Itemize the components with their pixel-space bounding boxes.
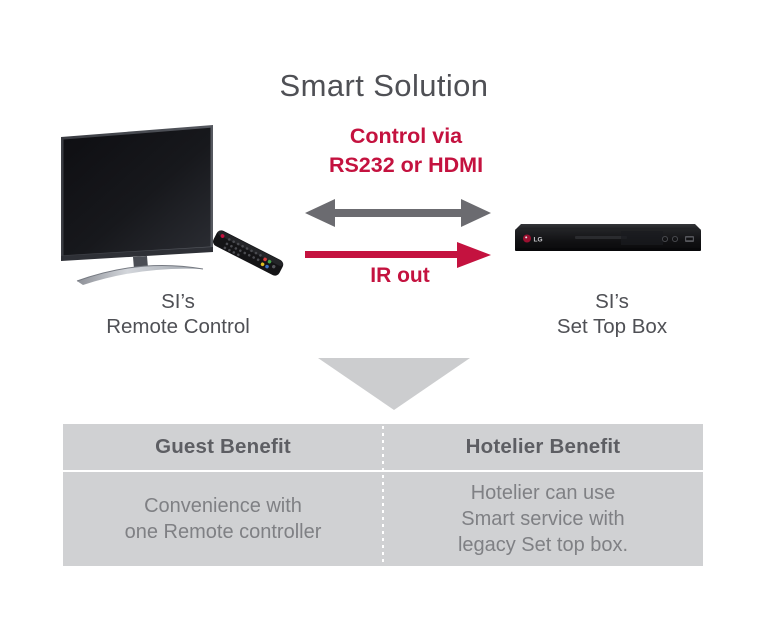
hotelier-benefit-header: Hotelier Benefit bbox=[466, 435, 621, 459]
set-top-box-image: LG bbox=[513, 220, 703, 256]
control-caption-line-2: RS232 or HDMI bbox=[300, 151, 512, 180]
left-device-caption: SI’s Remote Control bbox=[78, 289, 278, 339]
control-caption-line-1: Control via bbox=[300, 122, 512, 151]
down-triangle-icon bbox=[318, 358, 470, 410]
svg-text:LG: LG bbox=[534, 237, 543, 244]
table-cell-guest-benefit: Convenience with one Remote controller bbox=[63, 472, 383, 566]
table-header-cell-guest: Guest Benefit bbox=[63, 424, 383, 470]
smart-solution-infographic: Smart Solution bbox=[0, 0, 768, 623]
hotelier-benefit-line-3: legacy Set top box. bbox=[458, 532, 628, 558]
guest-benefit-text: Convenience with one Remote controller bbox=[125, 493, 322, 545]
right-device-caption-line-2: Set Top Box bbox=[512, 314, 712, 339]
hotelier-benefit-line-1: Hotelier can use bbox=[458, 480, 628, 506]
hotelier-benefit-line-2: Smart service with bbox=[458, 506, 628, 532]
table-column-divider bbox=[382, 426, 384, 566]
left-device-caption-line-2: Remote Control bbox=[78, 314, 278, 339]
right-device-caption-line-1: SI’s bbox=[512, 289, 712, 314]
double-headed-arrow-icon bbox=[305, 196, 491, 230]
hotelier-benefit-text: Hotelier can use Smart service with lega… bbox=[458, 480, 628, 558]
guest-benefit-line-1: Convenience with bbox=[125, 493, 322, 519]
benefits-table: Guest Benefit Hotelier Benefit Convenien… bbox=[63, 424, 703, 566]
guest-benefit-header: Guest Benefit bbox=[155, 435, 291, 459]
guest-benefit-line-2: one Remote controller bbox=[125, 519, 322, 545]
table-cell-hotelier-benefit: Hotelier can use Smart service with lega… bbox=[383, 472, 703, 566]
ir-out-label: IR out bbox=[300, 264, 500, 288]
remote-control-image bbox=[205, 222, 290, 284]
table-header-cell-hotelier: Hotelier Benefit bbox=[383, 424, 703, 470]
left-device-caption-line-1: SI’s bbox=[78, 289, 278, 314]
right-device-caption: SI’s Set Top Box bbox=[512, 289, 712, 339]
control-protocol-caption: Control via RS232 or HDMI bbox=[300, 122, 512, 180]
page-title: Smart Solution bbox=[0, 68, 768, 104]
